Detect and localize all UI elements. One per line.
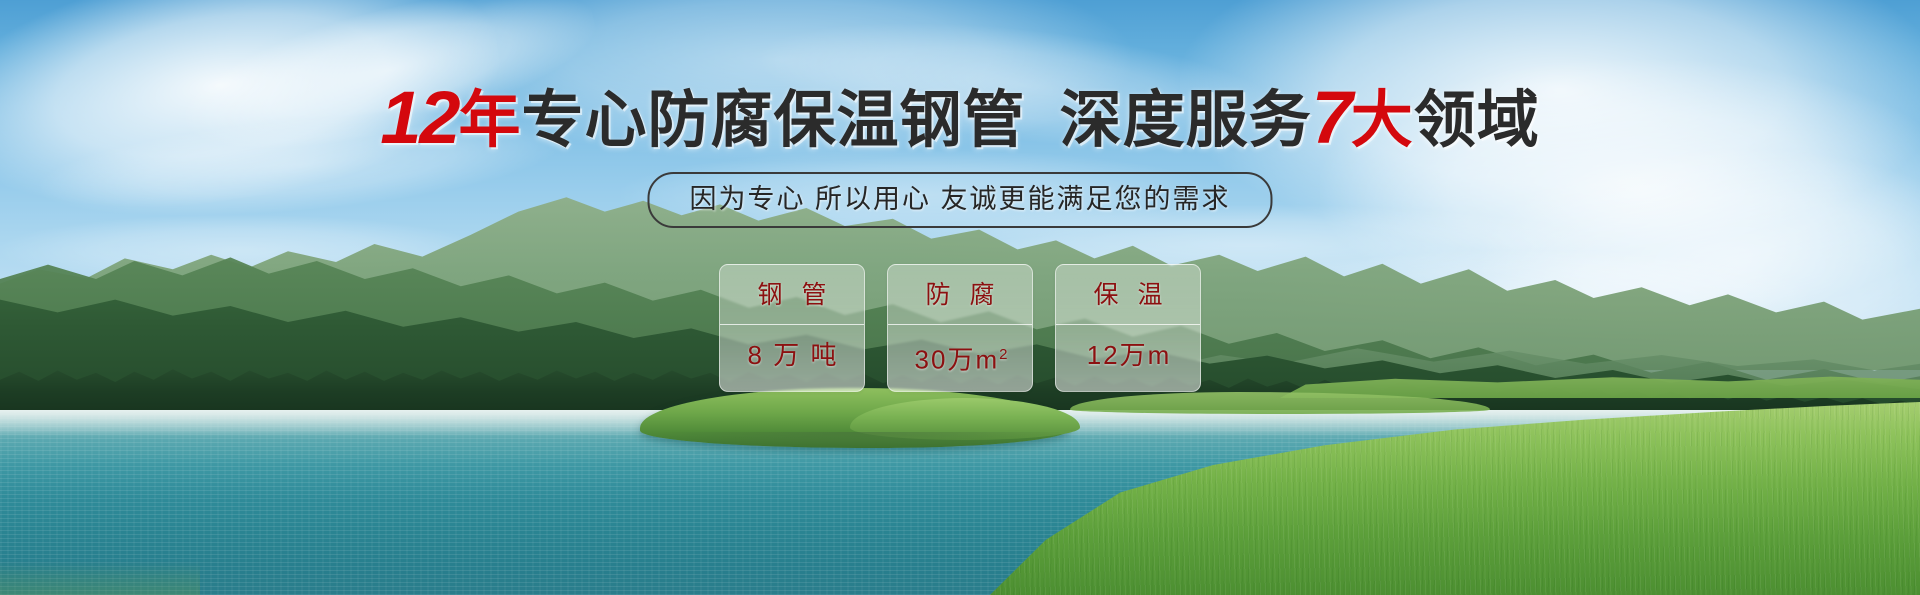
stat-card-value: 12万m: [1056, 325, 1200, 386]
headline: 12年专心防腐保温钢管深度服务7大领域: [0, 84, 1920, 155]
headline-years-number: 12: [380, 76, 458, 159]
headline-fields-number: 7: [1312, 76, 1351, 159]
stat-card-label: 钢 管: [720, 265, 864, 325]
headline-years-unit: 年: [459, 86, 522, 155]
stat-card-value-text: 12万m: [1087, 340, 1172, 370]
subtitle-pill: 因为专心 所以用心 友诚更能满足您的需求: [647, 172, 1272, 228]
headline-fields-unit: 大: [1351, 86, 1414, 155]
stat-card-value-text: 8 万 吨: [748, 340, 839, 370]
island-shoreline: [660, 432, 1060, 448]
grass-edge-left: [0, 561, 200, 595]
stat-card-value-superscript: 2: [999, 346, 1007, 363]
stat-card-value: 30万m2: [888, 325, 1032, 391]
stat-card-value-text: 30万m: [915, 345, 1000, 375]
stat-card-anticorrosion[interactable]: 防 腐 30万m2: [887, 264, 1033, 392]
stat-card-value: 8 万 吨: [720, 325, 864, 386]
headline-fields-tail: 领域: [1414, 86, 1540, 155]
headline-main-text: 专心防腐保温钢管: [522, 86, 1026, 155]
hero-banner: 12年专心防腐保温钢管深度服务7大领域 因为专心 所以用心 友诚更能满足您的需求…: [0, 0, 1920, 595]
stat-card-label: 防 腐: [888, 265, 1032, 325]
stat-card-insulation[interactable]: 保 温 12万m: [1055, 264, 1201, 392]
stat-card-group: 钢 管 8 万 吨 防 腐 30万m2 保 温 12万m: [719, 264, 1201, 392]
headline-service-text: 深度服务: [1060, 86, 1312, 155]
stat-card-steel-pipe[interactable]: 钢 管 8 万 吨: [719, 264, 865, 392]
stat-card-label: 保 温: [1056, 265, 1200, 325]
